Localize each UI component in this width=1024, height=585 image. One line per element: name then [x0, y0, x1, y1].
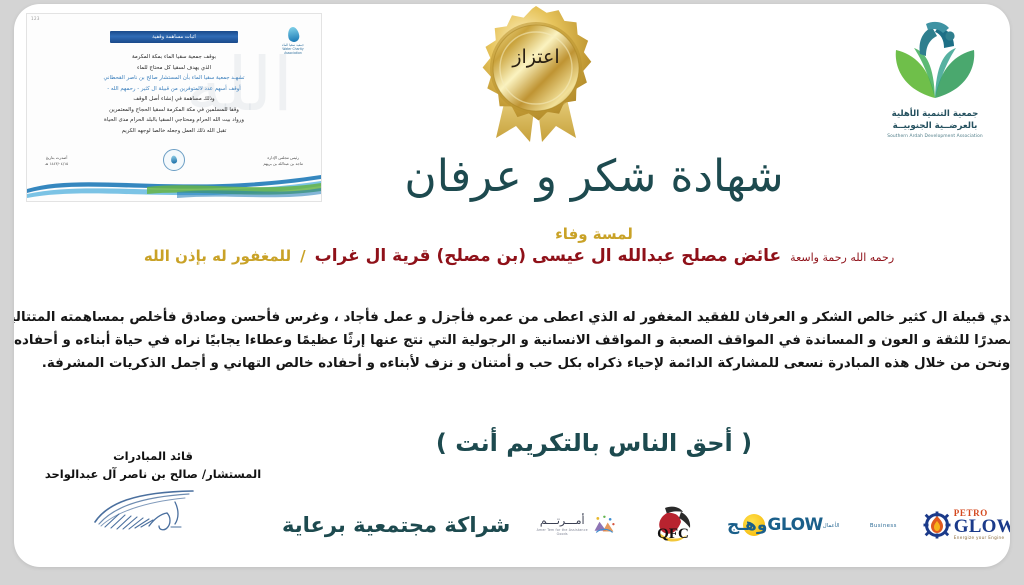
body-line: ونحن من خلال هذه المبادرة نسعى للمشاركة …: [28, 352, 1010, 375]
wahaj-sub-latin: Business: [870, 523, 897, 529]
amertem-wordmark: أمـــرتـــم: [536, 514, 588, 527]
certificate-signature-right: أصدرت بتاريخ ١٤٤٣/٠٤/١٥ هـ: [45, 155, 68, 168]
partnership-label: شراكة مجتمعية برعاية: [282, 513, 510, 537]
water-drop-icon: [286, 26, 299, 43]
amertem-mark-icon: [588, 512, 621, 538]
certificate-body: بوقف جمعية سقيا الماء بمكة المكرمة الذي …: [27, 52, 321, 136]
wahaj-wordmark-latin: GLOW: [767, 515, 822, 535]
certificate-corner-number: 123: [31, 16, 40, 21]
honoree-separator: /: [300, 247, 305, 265]
certificate-line: بوقف جمعية سقيا الماء بمكة المكرمة: [27, 52, 321, 63]
page-title-block: شهادة شكر و عرفان: [314, 152, 874, 203]
certificate-banner-title: اثبات مساهمة وقفية: [110, 31, 238, 43]
sponsor-amertem: أمـــرتـــم Amer Tem for the Assistance …: [536, 512, 621, 538]
amertem-subtitle: Amer Tem for the Assistance Goods: [536, 528, 588, 536]
signature-block: قائد المبادرات المستشار/ صالح بن ناصر آل…: [38, 448, 268, 536]
certificate-signature-left-line1: رئيس مجلس الإدارة: [263, 155, 303, 161]
handwritten-signature-icon: [89, 488, 217, 532]
org-logo-line3: Southern Ardah Development Association: [874, 134, 996, 141]
association-leaf-logo-icon: [874, 20, 996, 104]
petro-glow-tagline: Energize your Engine: [954, 536, 1010, 540]
honor-quote: ( أحق الناس بالتكريم أنت ): [314, 429, 874, 457]
signature-person: المستشار/ صالح بن ناصر آل عبدالواحد: [38, 466, 268, 484]
embedded-certificate-photo: 123 الله اثبات مساهمة وقفية جمعية سقيا ا…: [26, 13, 322, 202]
honoree-line: رحمه الله رحمة واسعة عائض مصلح عبدالله ا…: [124, 246, 914, 266]
certificate-line: الذي يهدف لسقيا كل محتاج للماء: [27, 63, 321, 74]
gold-rosette-icon: [466, 4, 606, 148]
certificate-line: تشهـد جمعية سقيا الماء بأن المستشار صالح…: [27, 73, 321, 84]
petro-glow-gear-flame-icon: [923, 511, 951, 539]
certificate-card: 123 الله اثبات مساهمة وقفية جمعية سقيا ا…: [14, 4, 1010, 567]
signature-role: قائد المبادرات: [38, 448, 268, 466]
body-paragraph: تهدي قبيلة ال كثير خالص الشكر و العرفان …: [28, 306, 1010, 375]
page-title: شهادة شكر و عرفان: [314, 152, 874, 203]
certificate-page: 123 الله اثبات مساهمة وقفية جمعية سقيا ا…: [0, 0, 1024, 585]
org-logo-line2: بالعرضــية الجنوبيــة: [874, 120, 996, 132]
body-line: ومصدرًا للثقة و العون و المساندة في المو…: [28, 329, 1010, 352]
certificate-line: أوقف أسهم عدد لالمتوفرين من قبيلة ال كثي…: [27, 84, 321, 95]
certificate-line: وذلك مساهمة في إنشاء أصل الوقف: [27, 94, 321, 105]
honoree-prefix: للمغفور له بإذن الله: [144, 247, 291, 265]
certificate-line: ورواد بيت الله الحرام ومحتاجي السقيا بال…: [27, 115, 321, 126]
wahaj-sub-arabic: الأعمال: [823, 523, 840, 529]
certificate-signatures: رئيس مجلس الإدارة ماجد بن عبدالله بن بري…: [27, 155, 321, 168]
subtitle-gold: لمسة وفاء: [314, 225, 874, 243]
honoree-name: عائض مصلح عبدالله ال عيسى (بن مصلح) قرية…: [315, 246, 782, 266]
certificate-signature-left: رئيس مجلس الإدارة ماجد بن عبدالله بن بري…: [263, 155, 303, 168]
organization-logo: جمعية التنمية الأهلية بالعرضــية الجنوبي…: [874, 20, 996, 141]
wave-decoration-icon: [27, 167, 321, 201]
petro-glow-word-main: GLOW: [954, 518, 1010, 536]
sponsor-petro-glow: PETRO GLOW Energize your Engine: [923, 509, 1010, 540]
qfc-falcon-icon: QFC: [647, 502, 701, 548]
sponsor-qfc: QFC: [647, 502, 701, 548]
certificate-signature-right-line1: أصدرت بتاريخ: [45, 155, 68, 161]
sponsors-strip: شراكة مجتمعية برعاية أمـــرتـــم Amer Te…: [276, 496, 1006, 554]
body-line: تهدي قبيلة ال كثير خالص الشكر و العرفان …: [28, 306, 1010, 329]
org-logo-line1: جمعية التنمية الأهلية: [874, 108, 996, 120]
sponsor-wahaj-glow: وهـجGLOW الأعمال Business: [727, 517, 897, 534]
certificate-line: تقبل الله ذلك العمل وجعله خالصا لوجهه ال…: [27, 126, 321, 137]
excellence-badge: اعتزاز: [466, 4, 606, 148]
certificate-line: وقفا للمسلمين في مكة المكرمة لسقيا الحجا…: [27, 105, 321, 116]
honoree-supplication: رحمه الله رحمة واسعة: [790, 251, 894, 264]
wahaj-wordmark-arabic: وهـج: [727, 515, 767, 535]
svg-text:QFC: QFC: [657, 526, 689, 542]
